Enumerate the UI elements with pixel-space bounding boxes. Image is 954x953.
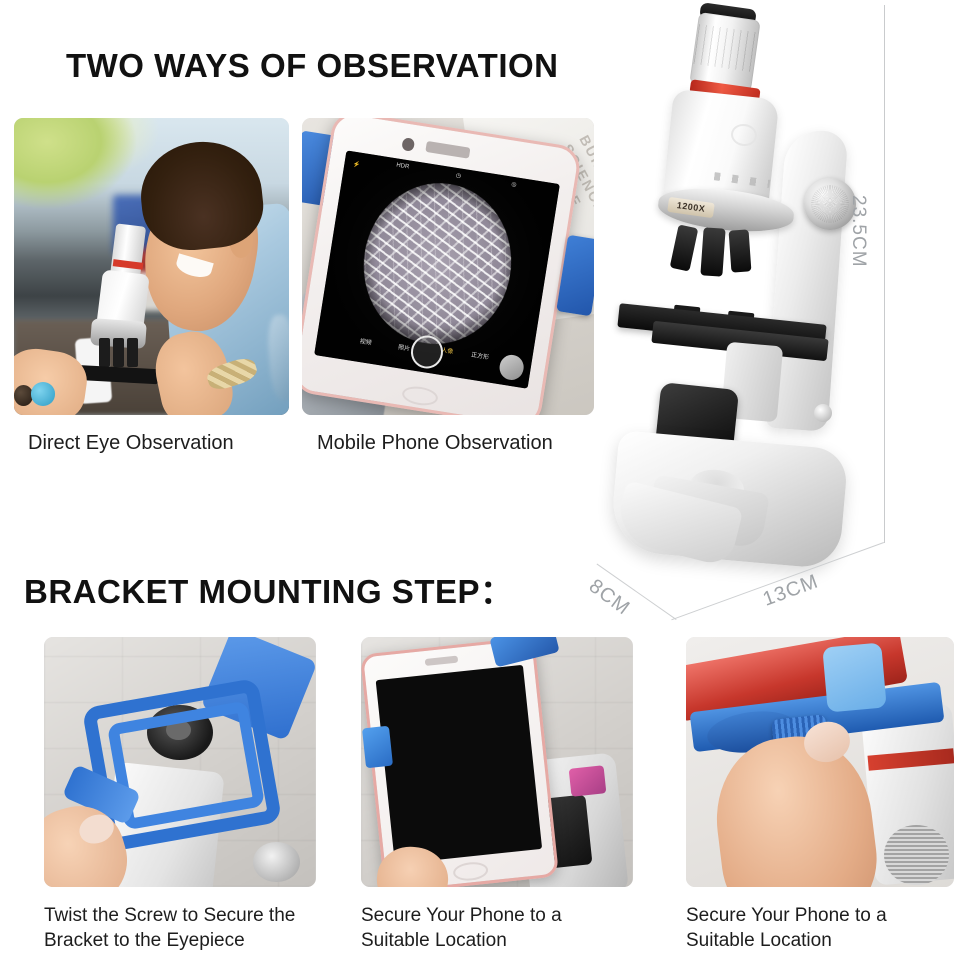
phone-screen bbox=[376, 664, 543, 864]
bracket-clip-left bbox=[362, 726, 393, 769]
section-heading-bracket: BRACKET MOUNTING STEP： bbox=[24, 565, 514, 613]
phone-mounted-microscope-photo: BUILDING DE SCIENCE HOUSE ⚡ HDR ◷ ◎ 视频 照… bbox=[302, 118, 594, 415]
dimension-height-label: 23.5CM bbox=[847, 195, 869, 268]
caption-step-2: Secure Your Phone to a Suitable Location bbox=[361, 903, 633, 953]
filter-icon[interactable]: ◎ bbox=[510, 181, 516, 189]
adjust-thumbwheel-photo bbox=[686, 637, 954, 887]
earpiece-speaker bbox=[424, 655, 458, 666]
product-microscope-photo: 1200X bbox=[596, 0, 896, 600]
focus-knob bbox=[884, 825, 948, 885]
height-dimension-line bbox=[884, 5, 885, 543]
focus-knob bbox=[253, 842, 299, 882]
mode-video[interactable]: 视频 bbox=[359, 336, 372, 347]
mode-photo[interactable]: 照片 bbox=[397, 342, 410, 353]
objective-lens bbox=[700, 227, 725, 276]
boy-using-microscope-photo bbox=[14, 118, 289, 415]
caption-mobile-phone: Mobile Phone Observation bbox=[317, 430, 553, 456]
section-heading-observation: TWO WAYS OF OBSERVATION bbox=[66, 47, 558, 85]
home-button[interactable] bbox=[400, 385, 438, 408]
bracket-tab bbox=[823, 642, 887, 712]
pink-clip bbox=[569, 765, 607, 796]
flash-icon[interactable]: ⚡ bbox=[352, 160, 360, 168]
objective-lens bbox=[113, 338, 124, 368]
blue-bead bbox=[31, 382, 56, 406]
earpiece-speaker bbox=[425, 141, 470, 159]
objective-lens bbox=[99, 338, 110, 368]
camera-app-screen: ⚡ HDR ◷ ◎ 视频 照片 人像 正方形 全景 bbox=[314, 151, 559, 389]
tension-screw bbox=[814, 404, 832, 422]
secure-phone-photo bbox=[361, 637, 633, 887]
eyepiece-grip-rings bbox=[693, 24, 756, 72]
twist-screw-photo bbox=[44, 637, 316, 887]
caption-step-1: Twist the Screw to Secure the Bracket to… bbox=[44, 903, 316, 953]
timer-icon[interactable]: ◷ bbox=[455, 172, 461, 180]
infographic-canvas: TWO WAYS OF OBSERVATION bbox=[0, 0, 954, 951]
caption-step-3: Secure Your Phone to a Suitable Location bbox=[686, 903, 954, 953]
objective-lens bbox=[670, 224, 699, 271]
home-button[interactable] bbox=[453, 860, 489, 882]
objective-lens bbox=[127, 338, 138, 368]
objective-lens bbox=[729, 229, 752, 272]
caption-direct-eye: Direct Eye Observation bbox=[28, 430, 234, 456]
front-camera-icon bbox=[401, 137, 415, 151]
shirt-fold bbox=[266, 314, 289, 401]
smartphone: ⚡ HDR ◷ ◎ 视频 照片 人像 正方形 全景 bbox=[302, 118, 583, 415]
